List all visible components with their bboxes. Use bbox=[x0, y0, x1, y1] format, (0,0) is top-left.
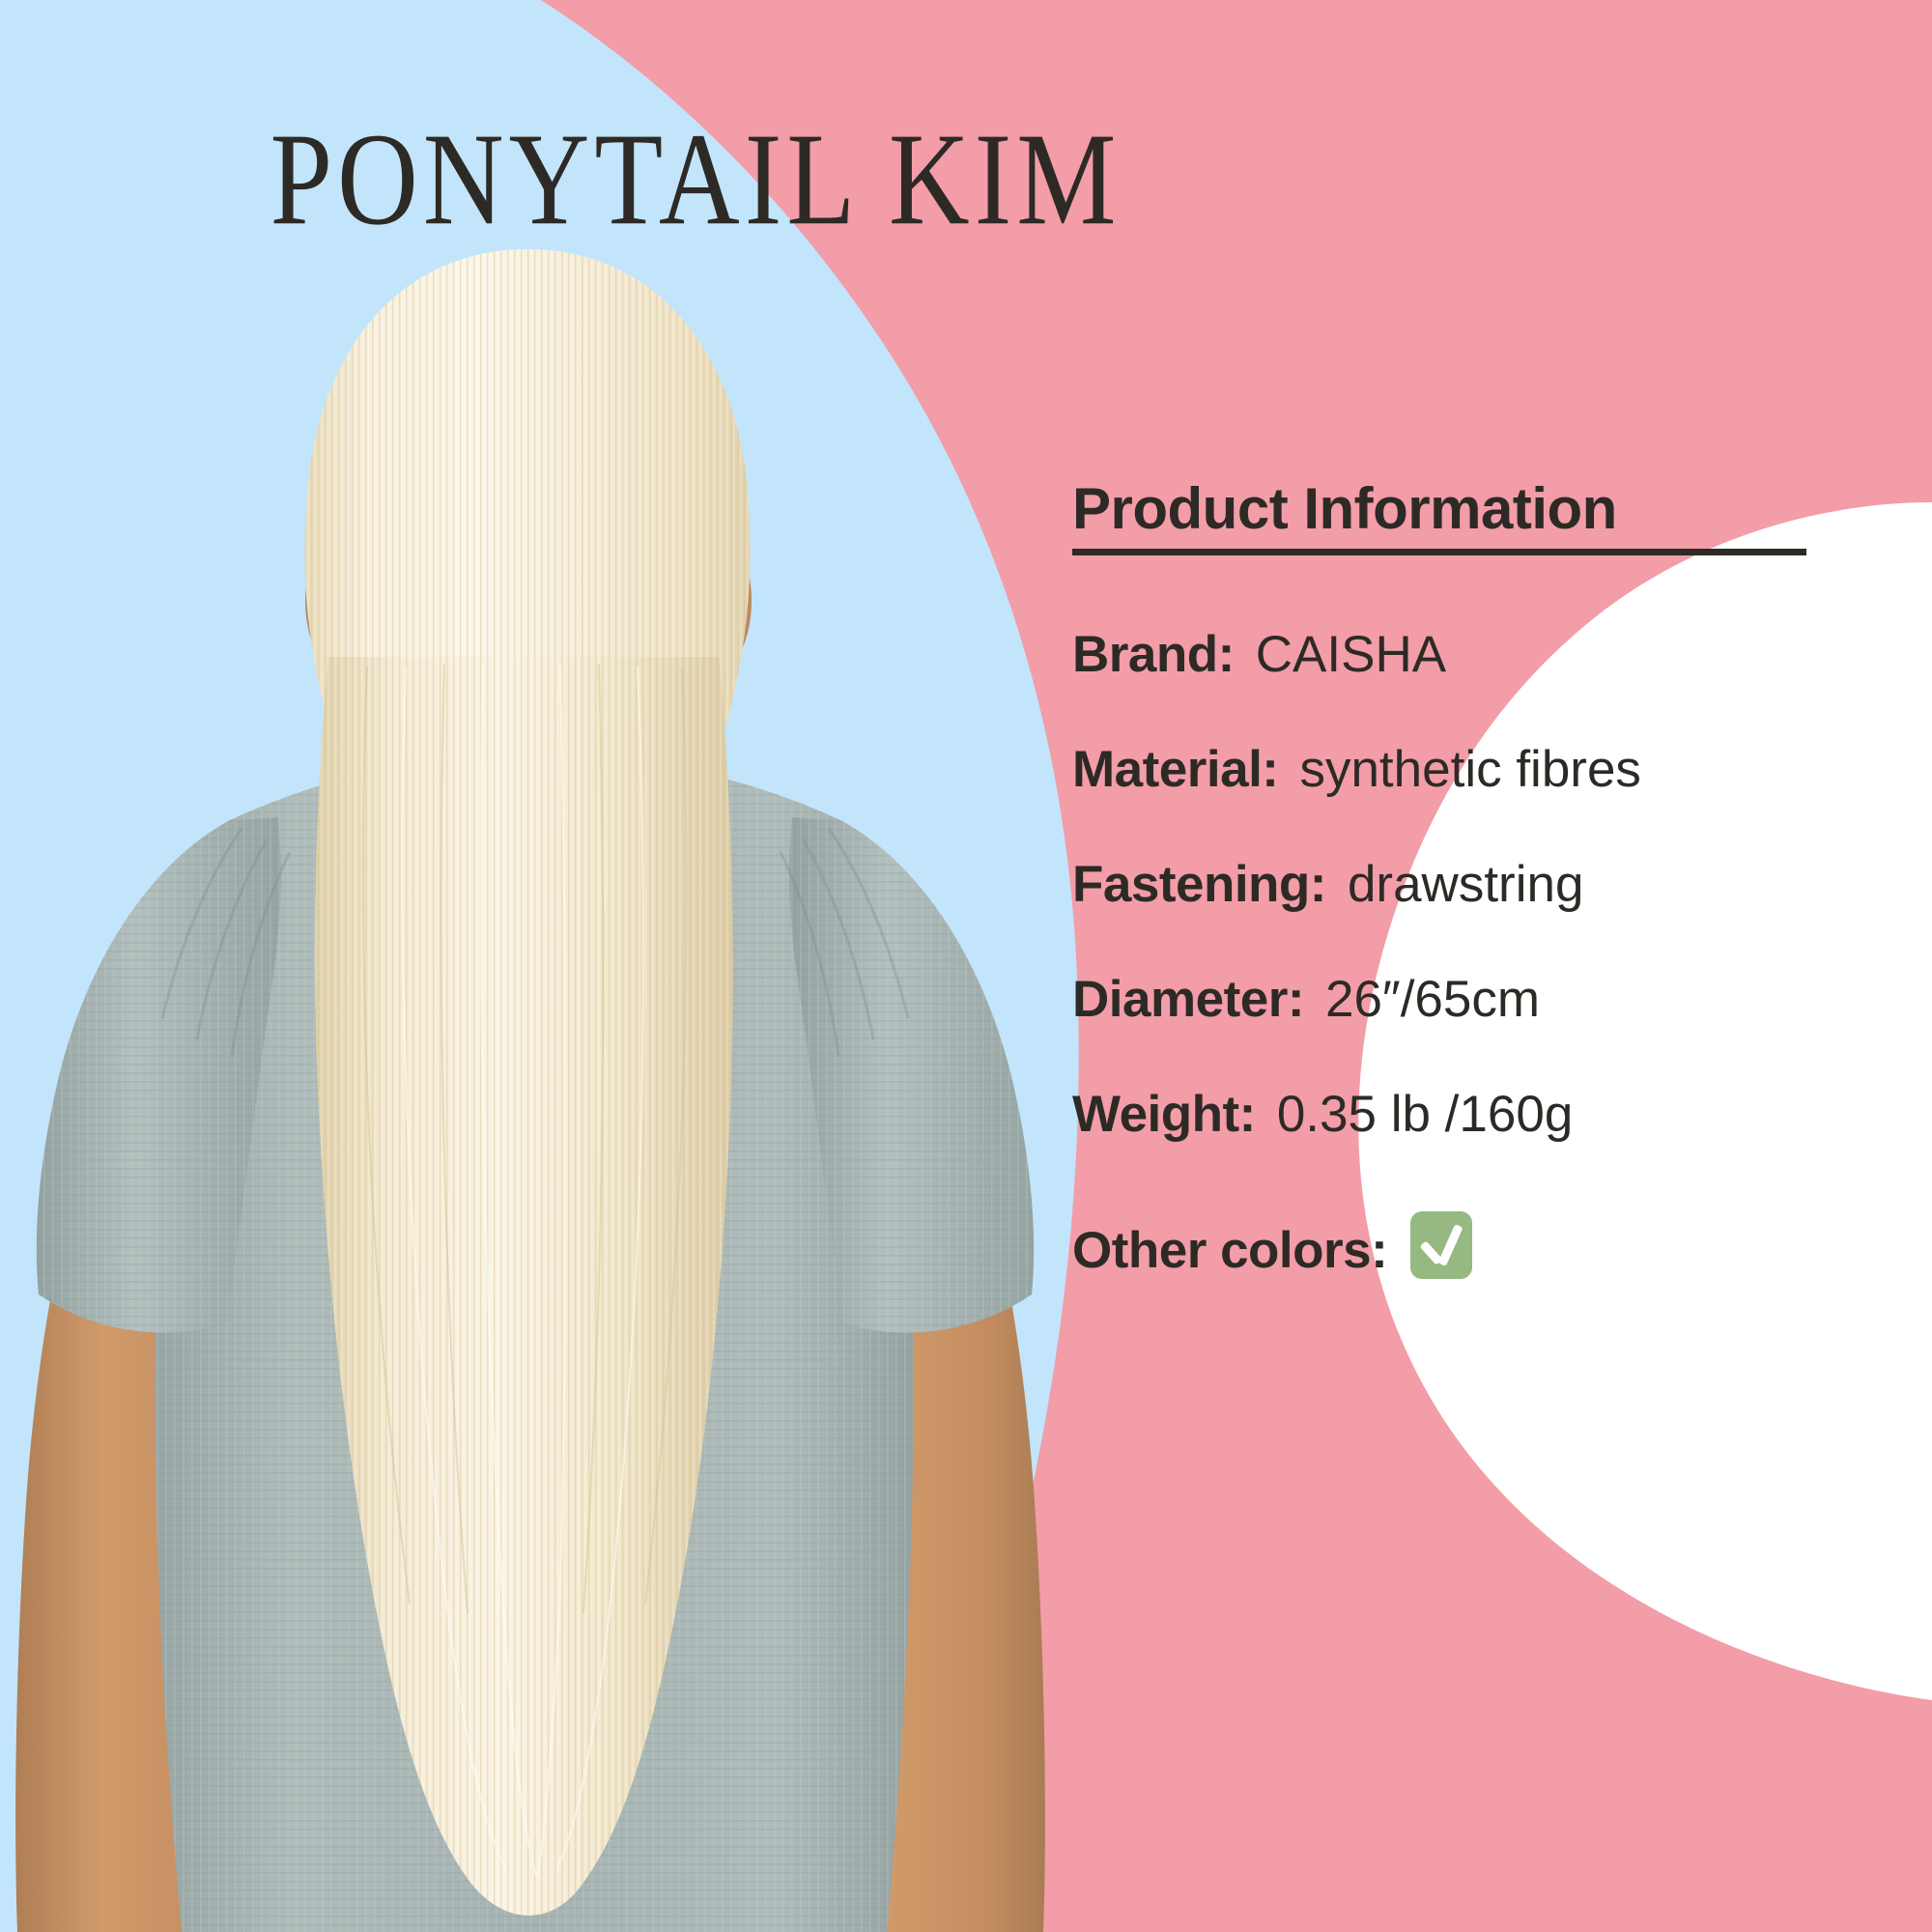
spec-row-weight: Weight: 0.35 lb /160g bbox=[1072, 1085, 1922, 1144]
heading-underline-rule bbox=[1072, 549, 1806, 555]
product-information-heading-group: Product Information bbox=[1072, 478, 1806, 555]
mannequin-illustration bbox=[0, 203, 1082, 1932]
spec-value-diameter: 26″/65cm bbox=[1325, 970, 1540, 1029]
spec-row-fastening: Fastening: drawstring bbox=[1072, 855, 1922, 914]
spec-label-diameter: Diameter: bbox=[1072, 970, 1304, 1029]
spec-value-material: synthetic fibres bbox=[1299, 740, 1640, 799]
spec-row-brand: Brand: CAISHA bbox=[1072, 625, 1922, 684]
product-photo bbox=[0, 203, 1082, 1932]
spec-label-weight: Weight: bbox=[1072, 1085, 1256, 1144]
hair-crown-strands bbox=[304, 249, 750, 724]
spec-label-other-colors: Other colors: bbox=[1072, 1221, 1387, 1280]
spec-row-other-colors: Other colors: bbox=[1072, 1200, 1922, 1280]
brand-title: PONYTAIL KIM bbox=[0, 114, 1391, 246]
spec-value-fastening: drawstring bbox=[1348, 855, 1583, 914]
spec-label-fastening: Fastening: bbox=[1072, 855, 1326, 914]
spec-row-material: Material: synthetic fibres bbox=[1072, 740, 1922, 799]
spec-value-brand: CAISHA bbox=[1256, 625, 1446, 684]
spec-value-weight: 0.35 lb /160g bbox=[1277, 1085, 1573, 1144]
check-mark-icon bbox=[1410, 1211, 1472, 1279]
spec-row-diameter: Diameter: 26″/65cm bbox=[1072, 970, 1922, 1029]
product-card-canvas: PONYTAIL KIM Product Information Brand: … bbox=[0, 0, 1932, 1932]
spec-label-brand: Brand: bbox=[1072, 625, 1235, 684]
spec-label-material: Material: bbox=[1072, 740, 1278, 799]
product-information-heading: Product Information bbox=[1072, 478, 1806, 539]
product-information-panel: Product Information Brand: CAISHA Materi… bbox=[1072, 478, 1922, 1280]
